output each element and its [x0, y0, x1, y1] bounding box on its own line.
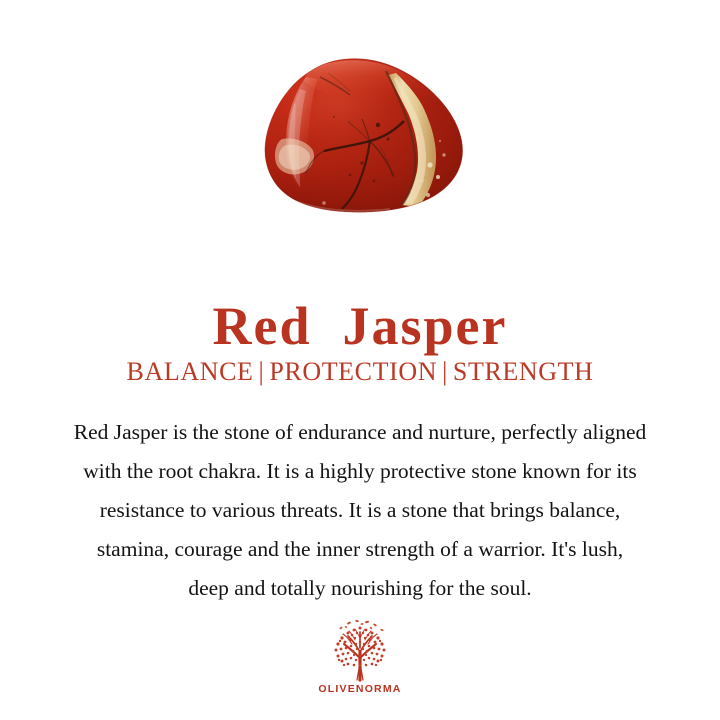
- description-text: Red Jasper is the stone of endurance and…: [10, 413, 710, 608]
- product-info-card: Red Jasper BALANCE|PROTECTION|STRENGTH R…: [0, 0, 720, 720]
- red-jasper-stone-image: [262, 55, 468, 217]
- description-line: Red Jasper is the stone of endurance and…: [10, 413, 710, 452]
- attribute-balance: BALANCE: [127, 357, 254, 386]
- attribute-separator-1: |: [254, 357, 270, 386]
- page-title: Red Jasper: [0, 298, 720, 355]
- description-line: stamina, courage and the inner strength …: [10, 530, 710, 569]
- description-line: deep and totally nourishing for the soul…: [10, 569, 710, 608]
- tree-icon: [324, 618, 396, 682]
- stone-illustration: [262, 55, 468, 217]
- brand-wordmark: OLIVENORMA: [0, 683, 720, 695]
- brand-logo: OLIVENORMA: [0, 618, 720, 695]
- attribute-strength: STRENGTH: [453, 357, 594, 386]
- stone-body: [262, 55, 468, 217]
- description-line: resistance to various threats. It is a s…: [10, 491, 710, 530]
- attribute-protection: PROTECTION: [269, 357, 437, 386]
- tree-floating-leaves: [339, 619, 384, 631]
- attribute-list: BALANCE|PROTECTION|STRENGTH: [0, 358, 720, 387]
- attribute-separator-2: |: [437, 357, 453, 386]
- description-line: with the root chakra. It is a highly pro…: [10, 452, 710, 491]
